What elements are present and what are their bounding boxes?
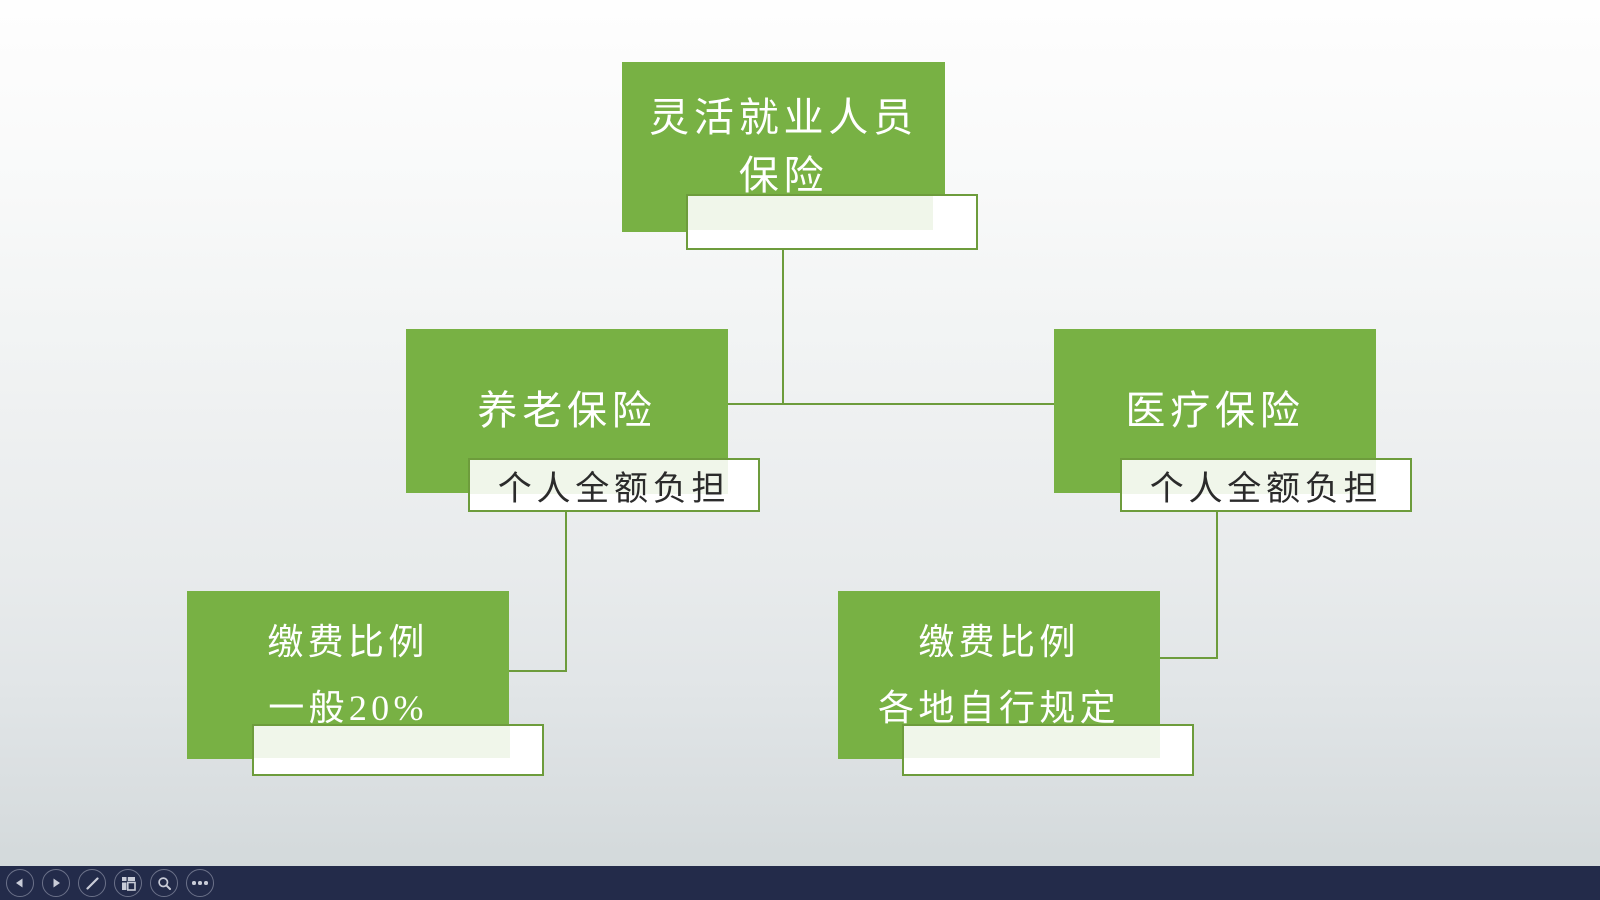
node-pension-rate-caption-box[interactable] [252, 724, 544, 776]
connector-root-to-row1-vertical [782, 232, 784, 404]
slide-canvas: 灵活就业人员保险 养老保险 个人全额负担 医疗保险 个人全额负担 缴费比例 一般… [0, 0, 1600, 866]
node-medical-label: 医疗保险 [1064, 382, 1366, 440]
connector-row1-horizontal [728, 403, 1055, 405]
overlap-tint [254, 726, 510, 758]
node-medical-caption-box[interactable]: 个人全额负担 [1120, 458, 1412, 512]
presentation-window: 灵活就业人员保险 养老保险 个人全额负担 医疗保险 个人全额负担 缴费比例 一般… [0, 0, 1600, 900]
node-root-label: 灵活就业人员保险 [632, 89, 935, 205]
connector-pension-horizontal [509, 670, 567, 672]
connector-medical-horizontal [1160, 657, 1218, 659]
node-pension-label: 养老保险 [416, 382, 718, 440]
grid-layout-icon [121, 876, 136, 891]
node-root-caption-box[interactable] [686, 194, 978, 250]
more-options-button[interactable] [186, 869, 214, 897]
node-medical-caption: 个人全额负担 [1122, 461, 1410, 510]
node-pension-caption: 个人全额负担 [470, 461, 758, 510]
triangle-right-icon [50, 877, 62, 889]
node-medical-rate-caption-box[interactable] [902, 724, 1194, 776]
ellipsis-icon [192, 881, 208, 885]
pen-tool-button[interactable] [78, 869, 106, 897]
zoom-in-button[interactable] [150, 869, 178, 897]
overlap-tint [688, 196, 933, 230]
next-slide-button[interactable] [42, 869, 70, 897]
slide-overview-button[interactable] [114, 869, 142, 897]
slideshow-toolbar [0, 866, 1600, 900]
connector-medical-vertical [1216, 512, 1218, 659]
magnifier-icon [157, 876, 172, 891]
node-pension-caption-box[interactable]: 个人全额负担 [468, 458, 760, 512]
triangle-left-icon [14, 877, 26, 889]
node-pension-rate-label-line1: 缴费比例 [267, 622, 428, 662]
connector-pension-vertical [565, 512, 567, 672]
overlap-tint [904, 726, 1160, 758]
pen-icon [85, 876, 100, 891]
previous-slide-button[interactable] [6, 869, 34, 897]
node-medical-rate-label-line1: 缴费比例 [918, 622, 1079, 662]
